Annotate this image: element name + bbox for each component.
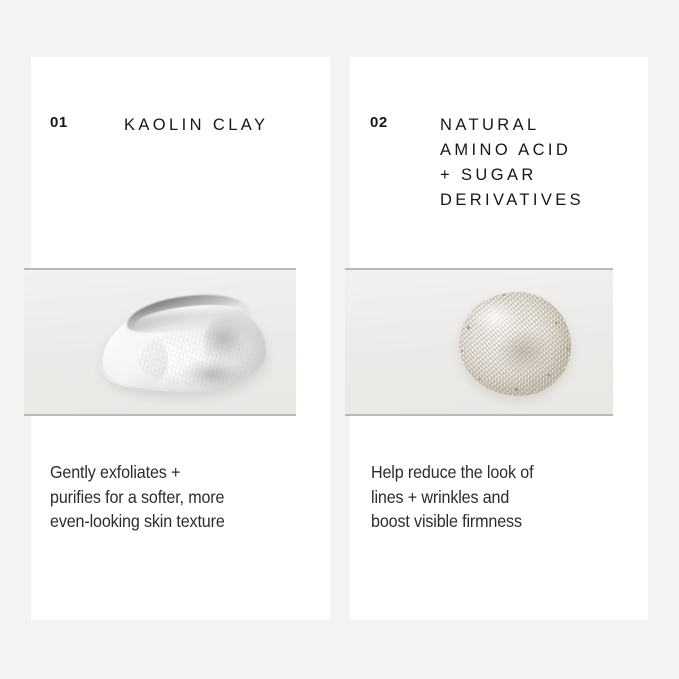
powder-swatch-panel — [345, 268, 613, 416]
powder-speck — [467, 326, 470, 329]
powder-speck — [479, 378, 481, 380]
panel-bottom-rule — [24, 414, 296, 416]
powder-core-shadow — [497, 330, 555, 376]
powder-heap-swatch — [455, 286, 575, 402]
powder-speck — [461, 350, 463, 352]
clay-lowlight — [176, 360, 248, 394]
clay-smear-swatch — [96, 294, 272, 400]
ingredient-description-02: Help reduce the look of lines + wrinkles… — [371, 460, 615, 534]
powder-speck — [547, 374, 550, 376]
ingredient-number-01: 01 — [50, 115, 68, 130]
ingredient-title-01: KAOLIN CLAY — [124, 113, 268, 138]
ingredient-number-02: 02 — [370, 115, 388, 130]
powder-speck — [515, 388, 518, 391]
powder-speck — [503, 294, 505, 296]
powder-speck — [567, 348, 569, 350]
clay-swatch-panel — [24, 268, 296, 416]
ingredient-title-02: NATURAL AMINO ACID + SUGAR DERIVATIVES — [440, 113, 584, 213]
panel-top-rule — [24, 268, 296, 270]
ingredient-description-01: Gently exfoliates + purifies for a softe… — [50, 460, 298, 534]
powder-speck — [555, 322, 558, 324]
panel-top-rule — [345, 268, 613, 270]
ingredient-comparison-graphic: 01 KAOLIN CLAY Gently exfoliates + purif… — [0, 0, 679, 679]
panel-bottom-rule — [345, 414, 613, 416]
